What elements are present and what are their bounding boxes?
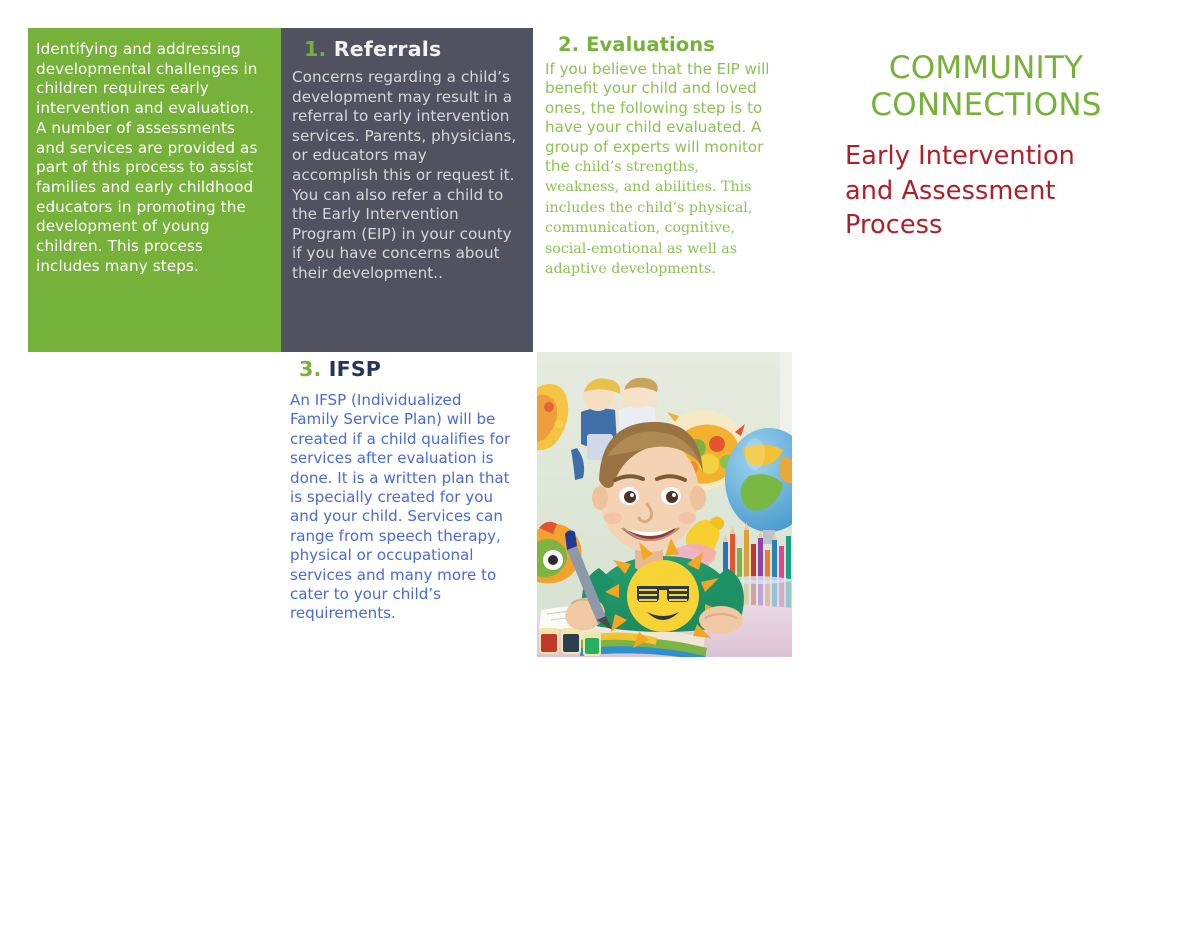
ifsp-section: 3. IFSP An IFSP (Individualized Family S… (290, 357, 512, 624)
evaluations-section: 2. Evaluations If you believe that the E… (545, 33, 777, 279)
brochure-subtitle: Early Intervention and Assessment Proces… (845, 139, 1127, 243)
ifsp-body: An IFSP (Individualized Family Service P… (290, 391, 512, 624)
referrals-panel: 1. Referrals Concerns regarding a child’… (281, 28, 533, 352)
ifsp-step-number: 3. (299, 357, 321, 381)
referrals-body: Concerns regarding a child’s development… (292, 68, 517, 284)
title-block: COMMUNITY CONNECTIONS Early Intervention… (845, 50, 1127, 243)
intro-panel: Identifying and addressing developmental… (28, 28, 281, 352)
evaluations-body-part1: If you believe that the EIP will benefit… (545, 60, 769, 175)
evaluations-body: If you believe that the EIP will benefit… (545, 60, 777, 279)
classroom-child-photo (537, 352, 792, 657)
ifsp-heading-label: IFSP (329, 357, 381, 381)
organization-name: COMMUNITY CONNECTIONS (845, 50, 1127, 123)
referrals-heading: 1. Referrals (304, 37, 517, 62)
ifsp-heading: 3. IFSP (299, 357, 512, 382)
evaluations-body-part2: child’s strengths, weakness, and abiliti… (545, 159, 752, 277)
evaluations-heading: 2. Evaluations (558, 33, 777, 57)
evaluations-heading-label: Evaluations (586, 33, 715, 56)
evaluations-step-number: 2. (558, 33, 579, 56)
referrals-heading-label: Referrals (334, 37, 442, 61)
brochure-page: Identifying and addressing developmental… (0, 0, 1200, 927)
intro-panel-body: Identifying and addressing developmental… (36, 40, 263, 276)
classroom-child-illustration (537, 352, 792, 657)
referrals-step-number: 1. (304, 37, 326, 61)
